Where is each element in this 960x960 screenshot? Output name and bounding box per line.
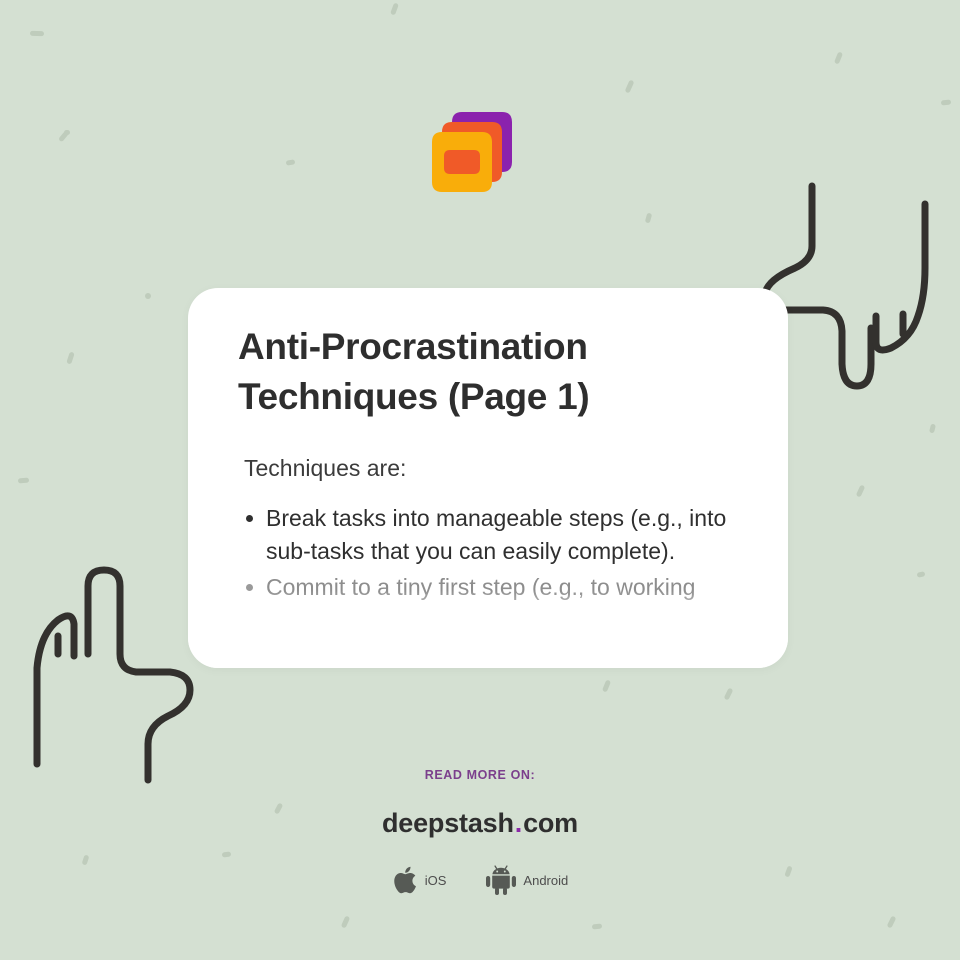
deepstash-logo (424, 100, 524, 200)
card-lead-text: Techniques are: (244, 454, 748, 484)
android-store-badge[interactable]: Android (486, 865, 568, 895)
page-title: Anti-Procrastination Techniques (Page 1) (238, 322, 748, 421)
store-badges: iOS (0, 865, 960, 895)
content-card: Anti-Procrastination Techniques (Page 1)… (188, 288, 788, 668)
techniques-list: Break tasks into manageable steps (e.g.,… (238, 502, 748, 604)
deepstash-wordmark[interactable]: deepstash.com (0, 808, 960, 839)
card-content: Anti-Procrastination Techniques (Page 1)… (188, 288, 788, 606)
read-more-label: READ MORE ON: (0, 768, 960, 782)
poster-canvas: Anti-Procrastination Techniques (Page 1)… (0, 0, 960, 960)
wordmark-tld: com (523, 808, 578, 838)
android-icon (486, 865, 516, 895)
footer: READ MORE ON: deepstash.com iOS (0, 768, 960, 895)
logo-middle-square (442, 122, 502, 182)
wordmark-dot: . (514, 808, 523, 838)
ios-store-badge[interactable]: iOS (392, 865, 447, 895)
wordmark-brand: deepstash (382, 808, 514, 838)
list-item: Commit to a tiny first step (e.g., to wo… (266, 571, 748, 604)
ios-label: iOS (425, 873, 447, 888)
apple-icon (392, 865, 418, 895)
list-item: Break tasks into manageable steps (e.g.,… (266, 502, 748, 569)
android-label: Android (523, 873, 568, 888)
